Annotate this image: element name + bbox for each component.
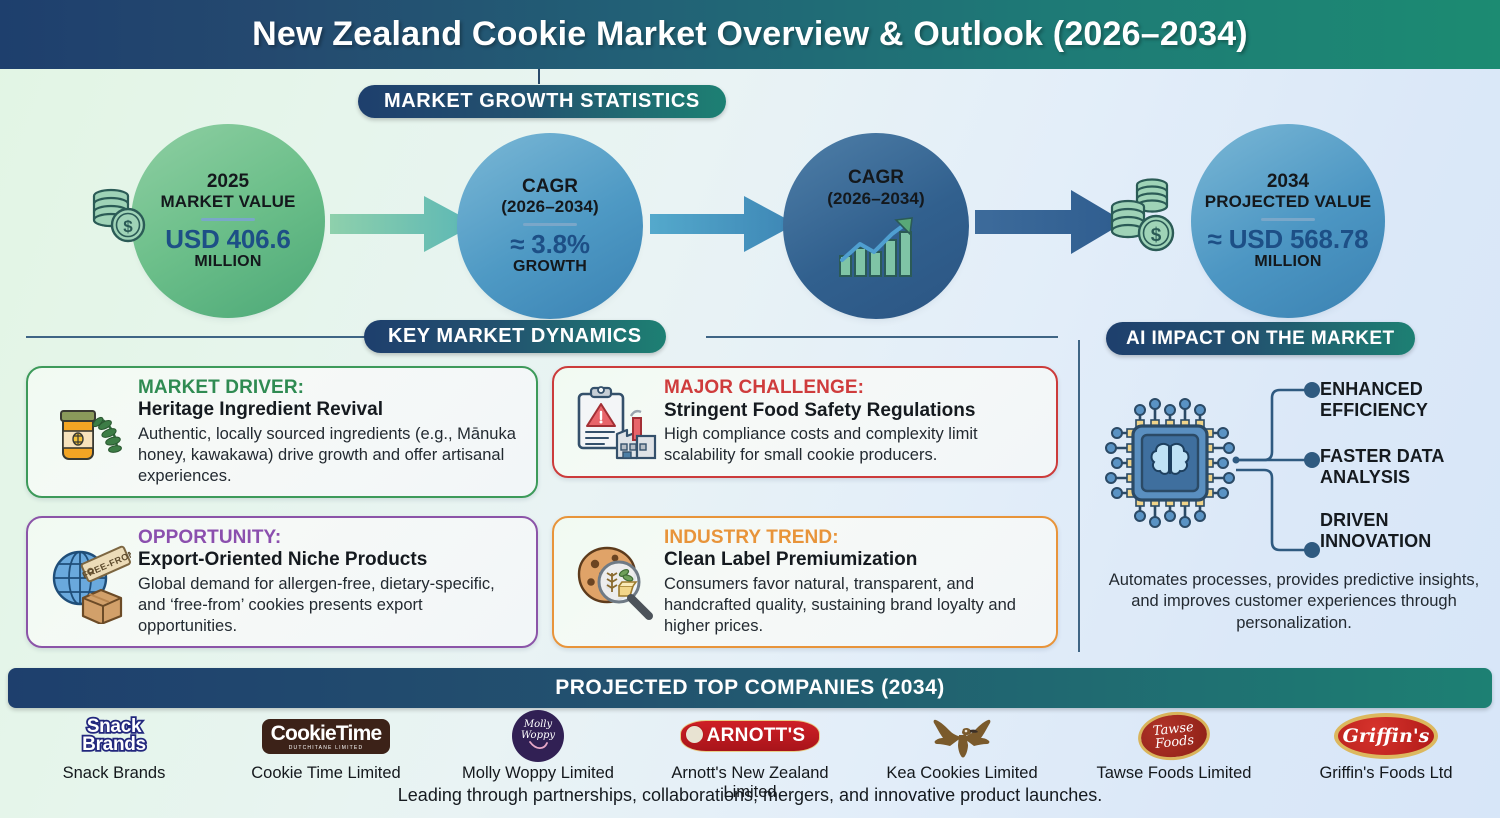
dynamics-card-label: OPPORTUNITY: bbox=[138, 527, 522, 549]
dynamics-card-label: MAJOR CHALLENGE: bbox=[664, 377, 1042, 399]
coins-icon: $ bbox=[84, 175, 156, 252]
ai-benefit-line-2: ANALYSIS bbox=[1320, 467, 1444, 488]
arnotts-logo-text: ARNOTT'S bbox=[707, 725, 806, 746]
stat-unit: MILLION bbox=[194, 253, 261, 271]
companies-list: SnackBrands Snack Brands CookieTime DUTC… bbox=[8, 710, 1492, 788]
ai-chip-brain-icon bbox=[1095, 388, 1245, 543]
dynamics-card-opportunity: FREE-FROM OPPORTUNITY: Export-Oriented N… bbox=[26, 516, 538, 648]
dynamics-card-text: Consumers favor natural, transparent, an… bbox=[664, 574, 1042, 637]
company-name: Griffin's Foods Ltd bbox=[1319, 764, 1452, 783]
company-kea-cookies: Kea Cookies Limited bbox=[862, 710, 1062, 783]
griffins-logo-text: Griffin's bbox=[1334, 713, 1438, 759]
dynamics-card-heading: Export-Oriented Niche Products bbox=[138, 549, 522, 572]
dynamics-card-heading: Heritage Ingredient Revival bbox=[138, 399, 522, 422]
section-header-market-growth: MARKET GROWTH STATISTICS bbox=[358, 85, 726, 118]
stat-divider bbox=[1261, 218, 1315, 221]
section-header-projected-top-companies: PROJECTED TOP COMPANIES (2034) bbox=[8, 668, 1492, 708]
stat-card-projected-value-2034: 2034 PROJECTED VALUE ≈ USD 568.78 MILLIO… bbox=[1200, 133, 1376, 309]
dynamics-card-label: MARKET DRIVER: bbox=[138, 377, 522, 399]
dynamics-card-heading: Stringent Food Safety Regulations bbox=[664, 400, 1042, 423]
ai-benefit-driven-innovation: DRIVEN INNOVATION bbox=[1320, 510, 1431, 551]
companies-footer-note: Leading through partnerships, collaborat… bbox=[0, 785, 1500, 806]
dynamics-card-text: High compliance costs and complexity lim… bbox=[664, 424, 1042, 466]
ai-benefit-enhanced-efficiency: ENHANCED EFFICIENCY bbox=[1320, 379, 1428, 420]
stat-value: ≈ USD 568.78 bbox=[1208, 226, 1369, 253]
ai-benefit-line-1: FASTER DATA bbox=[1320, 446, 1444, 467]
dynamics-card-market-driver: MARKET DRIVER: Heritage Ingredient Reviv… bbox=[26, 366, 538, 498]
stat-divider bbox=[201, 218, 255, 221]
arrow-right-icon bbox=[650, 192, 796, 261]
cookie-time-logo-sub: DUTCHITANE LIMITED bbox=[271, 746, 382, 751]
ai-benefit-line-2: INNOVATION bbox=[1320, 531, 1431, 552]
page-title: New Zealand Cookie Market Overview & Out… bbox=[252, 15, 1248, 54]
infographic-page: New Zealand Cookie Market Overview & Out… bbox=[0, 0, 1500, 818]
section-rule-right bbox=[706, 336, 1058, 338]
arnotts-logo: ARNOTT'S bbox=[680, 710, 821, 762]
ai-section-divider bbox=[1078, 340, 1080, 652]
stat-year: 2034 bbox=[1267, 171, 1309, 192]
section-header-ai-impact: AI IMPACT ON THE MARKET bbox=[1106, 322, 1415, 355]
arrow-right-icon bbox=[330, 192, 476, 261]
ai-benefit-line-1: DRIVEN bbox=[1320, 510, 1431, 531]
stat-value: USD 406.6 bbox=[165, 226, 290, 253]
dynamics-card-text: Authentic, locally sourced ingredients (… bbox=[138, 424, 522, 487]
cookie-magnifier-icon bbox=[566, 540, 662, 624]
griffins-logo: Griffin's bbox=[1334, 710, 1438, 762]
page-header: New Zealand Cookie Market Overview & Out… bbox=[0, 0, 1500, 69]
section-header-key-market-dynamics: KEY MARKET DYNAMICS bbox=[364, 320, 666, 353]
clipboard-factory-icon bbox=[566, 382, 662, 462]
molly-woppy-logo: Molly Woppy bbox=[512, 710, 564, 762]
ai-benefit-line-1: ENHANCED bbox=[1320, 379, 1428, 400]
coins-icon: $ bbox=[1100, 165, 1190, 270]
dynamics-card-industry-trend: INDUSTRY TREND: Clean Label Premiumizati… bbox=[552, 516, 1058, 648]
company-name: Kea Cookies Limited bbox=[886, 764, 1037, 783]
ai-benefit-faster-data-analysis: FASTER DATA ANALYSIS bbox=[1320, 446, 1444, 487]
kea-bird-logo bbox=[919, 710, 1005, 762]
stat-card-cagr-chart: CAGR (2026–2034) bbox=[792, 142, 960, 310]
honey-jar-icon bbox=[40, 389, 136, 475]
svg-text:$: $ bbox=[123, 217, 133, 236]
dynamics-card-label: INDUSTRY TREND: bbox=[664, 527, 1042, 549]
stat-unit: MILLION bbox=[1254, 253, 1321, 271]
company-tawse-foods: Tawse Foods Tawse Foods Limited bbox=[1074, 710, 1274, 783]
stat-sublabel: MARKET VALUE bbox=[161, 192, 296, 211]
tawse-foods-logo: Tawse Foods bbox=[1138, 710, 1210, 762]
company-name: Snack Brands bbox=[63, 764, 166, 783]
stat-year: 2025 bbox=[207, 171, 249, 192]
globe-parcel-icon: FREE-FROM bbox=[40, 540, 136, 624]
arnotts-parrot-icon bbox=[685, 725, 704, 744]
company-griffins-foods: Griffin's Griffin's Foods Ltd bbox=[1286, 710, 1486, 783]
svg-text:$: $ bbox=[1151, 225, 1162, 246]
company-name: Molly Woppy Limited bbox=[462, 764, 614, 783]
company-snack-brands: SnackBrands Snack Brands bbox=[14, 710, 214, 783]
tawse-foods-logo-text-2: Foods bbox=[1155, 734, 1195, 751]
cookie-time-logo: CookieTime DUTCHITANE LIMITED bbox=[262, 710, 391, 762]
company-cookie-time: CookieTime DUTCHITANE LIMITED Cookie Tim… bbox=[226, 710, 426, 783]
snack-brands-logo-text: SnackBrands bbox=[82, 718, 146, 754]
ai-benefit-line-2: EFFICIENCY bbox=[1320, 400, 1428, 421]
stat-sublabel: PROJECTED VALUE bbox=[1205, 192, 1372, 211]
company-name: Tawse Foods Limited bbox=[1097, 764, 1252, 783]
dynamics-card-heading: Clean Label Premiumization bbox=[664, 549, 1042, 572]
stat-title: CAGR bbox=[522, 176, 578, 197]
dynamics-card-text: Global demand for allergen-free, dietary… bbox=[138, 574, 522, 637]
stat-title: CAGR bbox=[848, 167, 904, 188]
dynamics-card-major-challenge: MAJOR CHALLENGE: Stringent Food Safety R… bbox=[552, 366, 1058, 478]
stat-divider bbox=[523, 223, 577, 226]
stat-card-market-value-2025: 2025 MARKET VALUE USD 406.6 MILLION bbox=[140, 133, 316, 309]
companies-title: PROJECTED TOP COMPANIES (2034) bbox=[555, 676, 945, 700]
company-name: Cookie Time Limited bbox=[251, 764, 400, 783]
stat-value: ≈ 3.8% bbox=[510, 231, 590, 258]
growth-chart-icon bbox=[834, 214, 918, 285]
snack-brands-logo: SnackBrands bbox=[82, 710, 146, 762]
stat-unit: GROWTH bbox=[513, 258, 587, 276]
company-molly-woppy: Molly Woppy Molly Woppy Limited bbox=[438, 710, 638, 783]
molly-woppy-logo-text-1: Molly bbox=[524, 720, 552, 730]
stat-period: (2026–2034) bbox=[827, 189, 925, 208]
cookie-time-logo-text: CookieTime bbox=[271, 722, 382, 745]
stat-card-cagr-growth: CAGR (2026–2034) ≈ 3.8% GROWTH bbox=[466, 142, 634, 310]
stat-period: (2026–2034) bbox=[501, 197, 599, 216]
section-rule-left bbox=[26, 336, 370, 338]
ai-section-note: Automates processes, provides predictive… bbox=[1098, 570, 1490, 634]
